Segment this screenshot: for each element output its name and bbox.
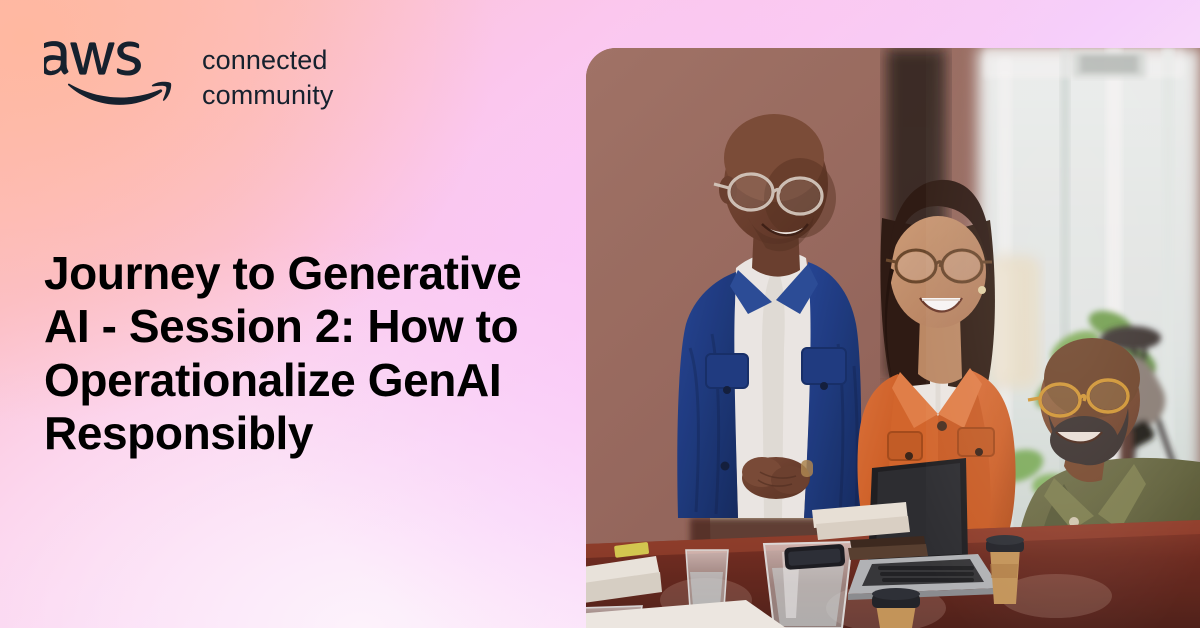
- event-banner: connected community Journey to Generativ…: [0, 0, 1200, 628]
- brand-wordmark: connected community: [202, 36, 333, 112]
- brand-logo-lockup: connected community: [44, 36, 333, 112]
- hero-photo: [586, 48, 1200, 628]
- aws-smile-logo-icon: [44, 36, 174, 110]
- page-title: Journey to Generative AI - Session 2: Ho…: [44, 247, 524, 460]
